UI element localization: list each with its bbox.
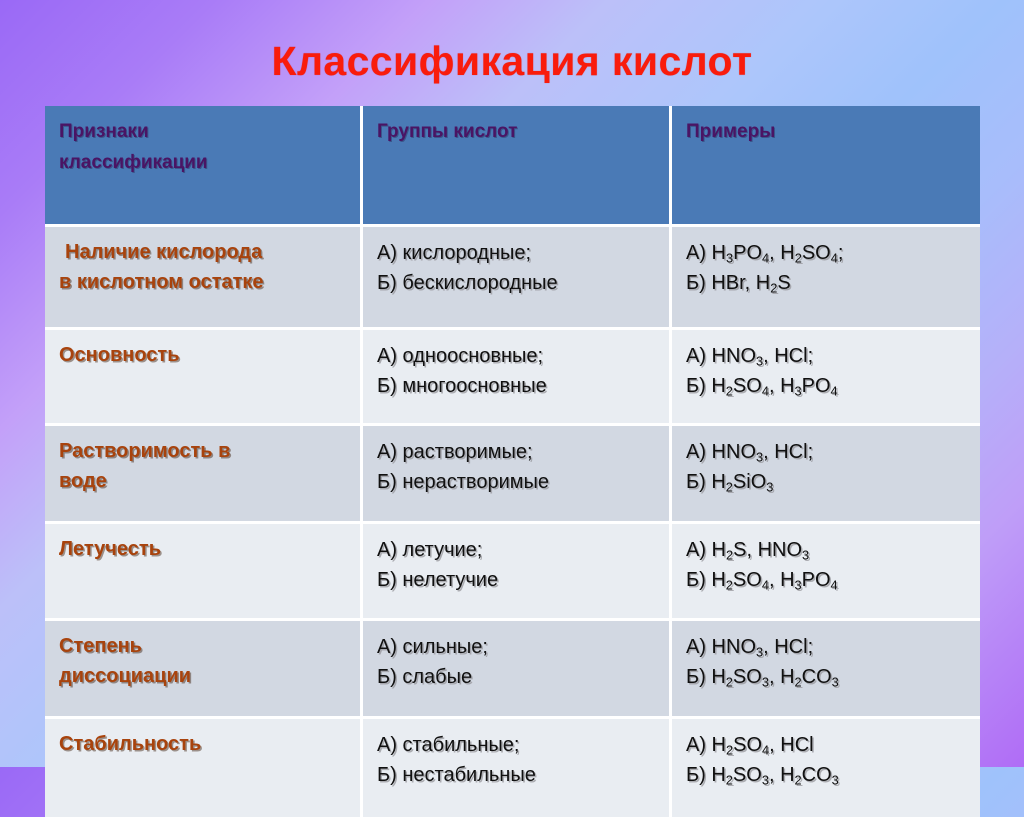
table-row: Наличие кислорода в кислотном остатке А)… — [45, 227, 980, 330]
feature-line1: Степень — [59, 632, 360, 662]
example-a: А) H2SO4, HCl — [686, 730, 980, 760]
cell-feature: Наличие кислорода в кислотном остатке — [45, 227, 363, 330]
cell-examples: А) H3PO4, H2SO4; Б) HBr, H2S — [672, 227, 980, 330]
group-option-a: А) сильные; — [377, 632, 669, 662]
table-row: Летучесть А) летучие; Б) нелетучие А) H2… — [45, 524, 980, 621]
page-title: Классификация кислот — [0, 38, 1024, 85]
group-option-b: Б) нерастворимые — [377, 467, 669, 497]
group-option-a: А) стабильные; — [377, 730, 669, 760]
table-row: Степень диссоциации А) сильные; Б) слабы… — [45, 621, 980, 719]
feature-line1: Наличие кислорода — [59, 238, 360, 268]
example-b: Б) H2SO3, H2CO3 — [686, 662, 980, 692]
acid-classification-table: Признаки классификации Группы кислот При… — [45, 106, 980, 817]
cell-groups: А) одноосновные; Б) многоосновные — [363, 330, 672, 426]
example-a: А) H3PO4, H2SO4; — [686, 238, 980, 268]
feature-line1: Растворимость в — [59, 437, 360, 467]
cell-feature: Основность — [45, 330, 363, 426]
header-cell-features: Признаки классификации — [45, 106, 363, 227]
cell-examples: А) HNO3, HCl; Б) H2SO3, H2CO3 — [672, 621, 980, 719]
cell-examples: А) HNO3, HCl; Б) H2SiO3 — [672, 426, 980, 524]
feature-line1: Основность — [59, 341, 360, 371]
group-option-b: Б) бескислородные — [377, 268, 669, 298]
header-features-line1: Признаки — [59, 117, 360, 148]
header-examples-label: Примеры — [686, 117, 980, 148]
cell-examples: А) HNO3, HCl; Б) H2SO4, H3PO4 — [672, 330, 980, 426]
cell-feature: Стабильность — [45, 719, 363, 817]
cell-examples: А) H2S, HNO3 Б) H2SO4, H3PO4 — [672, 524, 980, 621]
feature-line2: в кислотном остатке — [59, 268, 360, 298]
cell-groups: А) летучие; Б) нелетучие — [363, 524, 672, 621]
cell-groups: А) сильные; Б) слабые — [363, 621, 672, 719]
table-row: Стабильность А) стабильные; Б) нестабиль… — [45, 719, 980, 817]
example-b: Б) H2SO3, H2CO3 — [686, 760, 980, 790]
group-option-b: Б) многоосновные — [377, 371, 669, 401]
cell-feature: Летучесть — [45, 524, 363, 621]
table-row: Основность А) одноосновные; Б) многоосно… — [45, 330, 980, 426]
example-b: Б) HBr, H2S — [686, 268, 980, 298]
group-option-b: Б) слабые — [377, 662, 669, 692]
feature-line1: Стабильность — [59, 730, 360, 760]
feature-line2: воде — [59, 467, 360, 497]
example-b: Б) H2SO4, H3PO4 — [686, 565, 980, 595]
header-features-line2: классификации — [59, 148, 360, 179]
header-cell-examples: Примеры — [672, 106, 980, 227]
feature-line1: Летучесть — [59, 535, 360, 565]
group-option-a: А) летучие; — [377, 535, 669, 565]
header-cell-groups: Группы кислот — [363, 106, 672, 227]
group-option-b: Б) нестабильные — [377, 760, 669, 790]
cell-groups: А) стабильные; Б) нестабильные — [363, 719, 672, 817]
cell-feature: Степень диссоциации — [45, 621, 363, 719]
example-b: Б) H2SiO3 — [686, 467, 980, 497]
cell-feature: Растворимость в воде — [45, 426, 363, 524]
example-a: А) HNO3, HCl; — [686, 632, 980, 662]
example-a: А) H2S, HNO3 — [686, 535, 980, 565]
group-option-a: А) одноосновные; — [377, 341, 669, 371]
header-groups-label: Группы кислот — [377, 117, 669, 148]
table-header-row: Признаки классификации Группы кислот При… — [45, 106, 980, 227]
feature-line2: диссоциации — [59, 662, 360, 692]
cell-groups: А) растворимые; Б) нерастворимые — [363, 426, 672, 524]
table-row: Растворимость в воде А) растворимые; Б) … — [45, 426, 980, 524]
group-option-b: Б) нелетучие — [377, 565, 669, 595]
cell-examples: А) H2SO4, HCl Б) H2SO3, H2CO3 — [672, 719, 980, 817]
group-option-a: А) кислородные; — [377, 238, 669, 268]
cell-groups: А) кислородные; Б) бескислородные — [363, 227, 672, 330]
example-a: А) HNO3, HCl; — [686, 437, 980, 467]
group-option-a: А) растворимые; — [377, 437, 669, 467]
example-b: Б) H2SO4, H3PO4 — [686, 371, 980, 401]
example-a: А) HNO3, HCl; — [686, 341, 980, 371]
